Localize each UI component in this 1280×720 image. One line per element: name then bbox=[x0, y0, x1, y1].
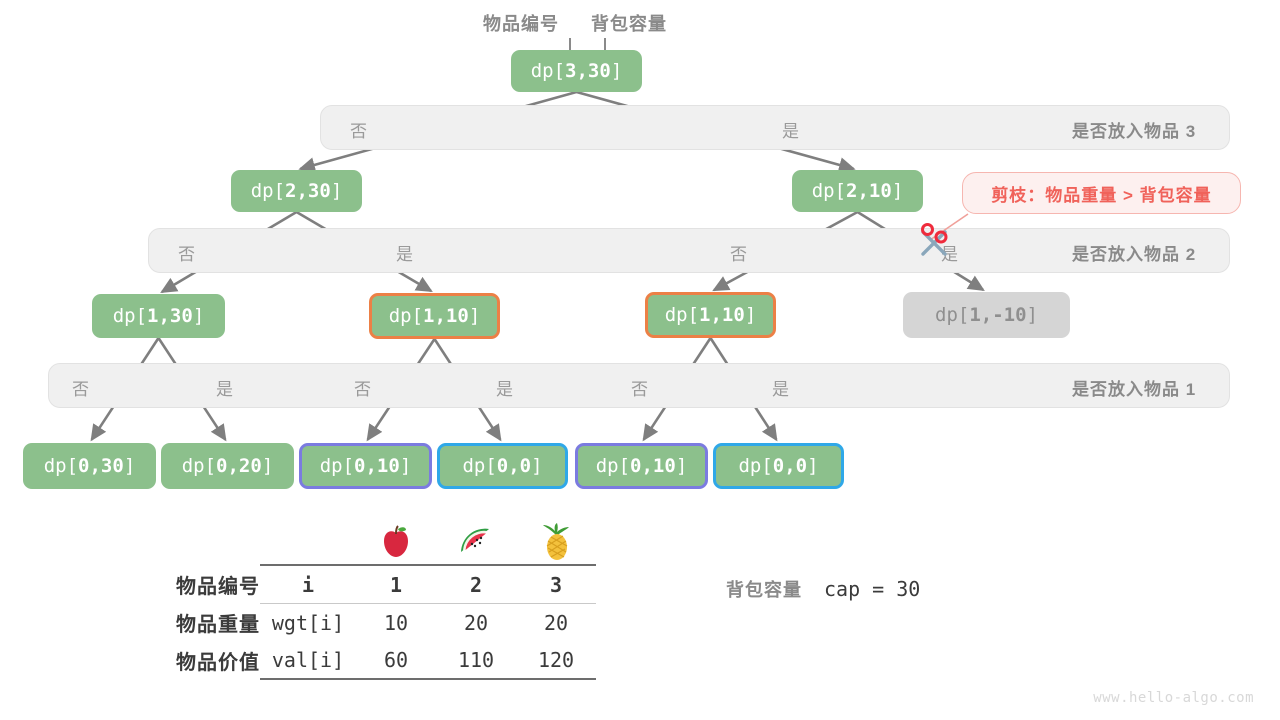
tree-node-dp-0-20: dp[0,20] bbox=[161, 443, 294, 489]
top-label-item-index: 物品编号 bbox=[483, 10, 559, 36]
row-label-item-weight: 物品重量 bbox=[176, 604, 260, 642]
branch-word-1-1: 否 bbox=[350, 117, 367, 142]
cell-weight-3: 20 bbox=[516, 604, 596, 642]
cell-value-3: 120 bbox=[516, 641, 596, 679]
branch-word-3-1: 否 bbox=[72, 375, 89, 400]
branch-word-3-3: 否 bbox=[354, 375, 371, 400]
watermelon-icon bbox=[436, 520, 516, 565]
band-label-1: 是否放入物品 3 bbox=[1072, 117, 1196, 142]
decision-band-2 bbox=[148, 228, 1230, 273]
branch-word-3-5: 否 bbox=[631, 375, 648, 400]
capacity-note-value: cap = 30 bbox=[824, 577, 920, 601]
tree-node-dp-2-10: dp[2,10] bbox=[792, 170, 923, 212]
tree-node-dp-1-10: dp[1,10] bbox=[645, 292, 776, 338]
cell-value-1: 60 bbox=[356, 641, 436, 679]
tree-node-dp-1-30: dp[1,30] bbox=[92, 294, 225, 338]
tree-node-dp-0-10: dp[0,10] bbox=[299, 443, 432, 489]
branch-word-1-2: 是 bbox=[782, 117, 799, 142]
branch-word-2-3: 否 bbox=[730, 240, 747, 265]
tree-node-dp-0-0: dp[0,0] bbox=[437, 443, 568, 489]
band-label-2: 是否放入物品 2 bbox=[1072, 240, 1196, 265]
item-spec-table: 物品编号 i 1 2 3 物品重量 wgt[i] 10 20 20 物品价值 v… bbox=[176, 520, 596, 680]
table-row-value: 物品价值 val[i] 60 110 120 bbox=[176, 641, 596, 679]
table-row-icons bbox=[176, 520, 596, 565]
col0-weight: wgt[i] bbox=[260, 604, 356, 642]
cell-index-3: 3 bbox=[516, 565, 596, 604]
branch-word-3-4: 是 bbox=[496, 375, 513, 400]
tree-node-dp-1-10: dp[1,10] bbox=[369, 293, 500, 339]
cell-weight-1: 10 bbox=[356, 604, 436, 642]
cell-value-2: 110 bbox=[436, 641, 516, 679]
tree-node-dp-0-0: dp[0,0] bbox=[713, 443, 844, 489]
watermark: www.hello-algo.com bbox=[1093, 690, 1254, 706]
capacity-note-label: 背包容量 bbox=[726, 580, 802, 600]
branch-word-3-6: 是 bbox=[772, 375, 789, 400]
row-label-item-index: 物品编号 bbox=[176, 565, 260, 604]
tree-node-dp-1--10: dp[1,-10] bbox=[903, 292, 1070, 338]
band-label-3: 是否放入物品 1 bbox=[1072, 375, 1196, 400]
scissors-icon bbox=[915, 222, 955, 262]
branch-word-3-2: 是 bbox=[216, 375, 233, 400]
icons-rowhead bbox=[176, 520, 260, 565]
table-row-index: 物品编号 i 1 2 3 bbox=[176, 565, 596, 604]
icons-col0 bbox=[260, 520, 356, 565]
cell-index-1: 1 bbox=[356, 565, 436, 604]
apple-icon bbox=[356, 520, 436, 565]
tree-node-dp-3-30: dp[3,30] bbox=[511, 50, 642, 92]
cell-weight-2: 20 bbox=[436, 604, 516, 642]
row-label-item-value: 物品价值 bbox=[176, 641, 260, 679]
col0-index: i bbox=[260, 565, 356, 604]
pineapple-icon bbox=[516, 520, 596, 565]
diagram-canvas: 物品编号 背包容量 是否放入物品 3否是是否放入物品 2否是否是是否放入物品 1… bbox=[0, 0, 1280, 720]
branch-word-2-1: 否 bbox=[178, 240, 195, 265]
branch-word-2-2: 是 bbox=[396, 240, 413, 265]
tree-node-dp-2-30: dp[2,30] bbox=[231, 170, 362, 212]
col0-value: val[i] bbox=[260, 641, 356, 679]
cell-index-2: 2 bbox=[436, 565, 516, 604]
capacity-note: 背包容量cap = 30 bbox=[726, 576, 920, 602]
table-row-weight: 物品重量 wgt[i] 10 20 20 bbox=[176, 604, 596, 642]
top-label-capacity: 背包容量 bbox=[591, 10, 667, 36]
tree-node-dp-0-30: dp[0,30] bbox=[23, 443, 156, 489]
tree-node-dp-0-10: dp[0,10] bbox=[575, 443, 708, 489]
pruning-callout: 剪枝：物品重量 > 背包容量 bbox=[962, 172, 1241, 214]
